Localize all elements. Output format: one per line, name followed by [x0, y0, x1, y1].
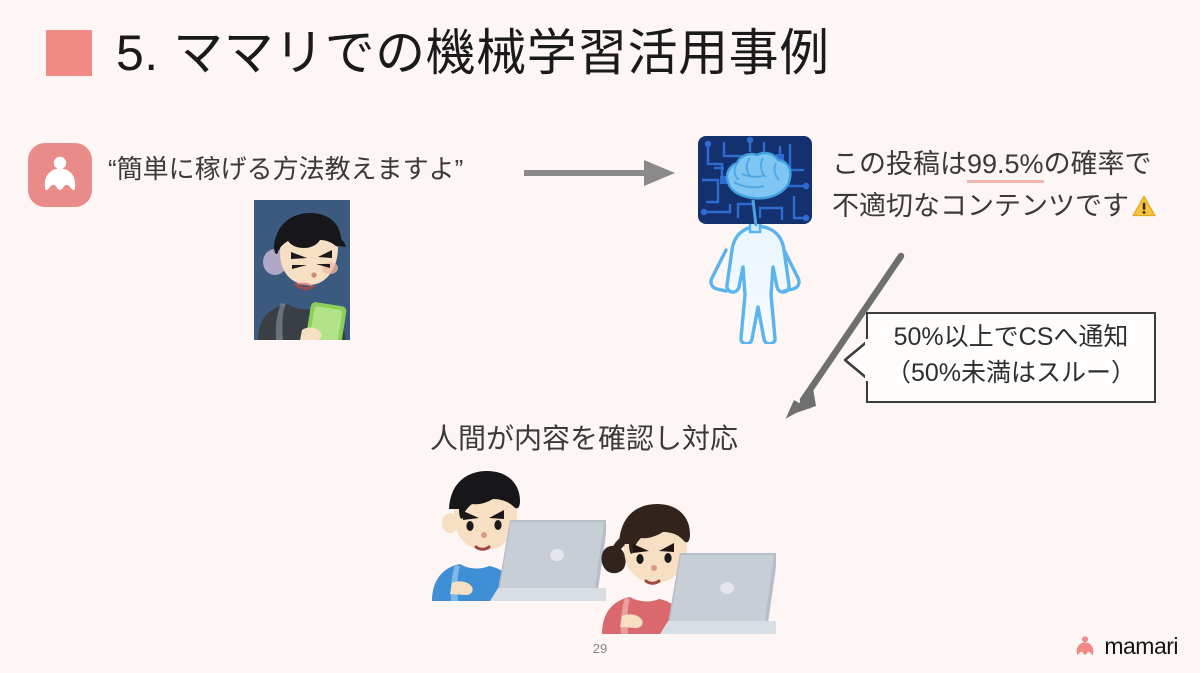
arrow-right-icon [522, 155, 677, 191]
verdict-suffix: の確率で [1044, 149, 1152, 179]
callout-line-1: 50%以上でCSへ通知 [878, 320, 1144, 356]
callout-line-2: （50%未満はスルー） [878, 356, 1144, 392]
human-review-caption: 人間が内容を確認し対応 [430, 417, 738, 457]
page-title: 5. ママリでの機械学習活用事例 [46, 28, 830, 78]
page-number: 29 [0, 641, 1200, 656]
brand-logo: mamari [1073, 634, 1178, 658]
slide-canvas: 5. ママリでの機械学習活用事例 “簡単に稼げる方法教えますよ” [0, 0, 1200, 673]
title-bullet-square [46, 30, 92, 76]
callout-tail [843, 338, 870, 382]
spam-poster-illustration [252, 200, 354, 340]
human-reviewer-male-illustration [430, 465, 606, 601]
verdict-prefix: この投稿は [832, 149, 967, 179]
verdict-line-2: 不適切なコンテンツです [832, 186, 1157, 228]
human-reviewer-female-illustration [600, 498, 776, 634]
title-text: 5. ママリでの機械学習活用事例 [116, 28, 830, 78]
brand-name: mamari [1104, 635, 1178, 658]
verdict-probability: 99.5% [967, 149, 1044, 183]
verdict-line-1: この投稿は99.5%の確率で [832, 144, 1157, 186]
spam-post-quote: “簡単に稼げる方法教えますよ” [108, 149, 463, 186]
ai-verdict-text: この投稿は99.5%の確率で 不適切なコンテンツです [832, 144, 1157, 228]
mamari-logo-mark-icon [1073, 634, 1097, 658]
warning-triangle-icon [1131, 190, 1157, 216]
threshold-callout: 50%以上でCSへ通知 （50%未満はスルー） [866, 312, 1156, 403]
verdict-label: 不適切なコンテンツです [832, 191, 1129, 221]
mamari-app-icon [28, 143, 92, 207]
